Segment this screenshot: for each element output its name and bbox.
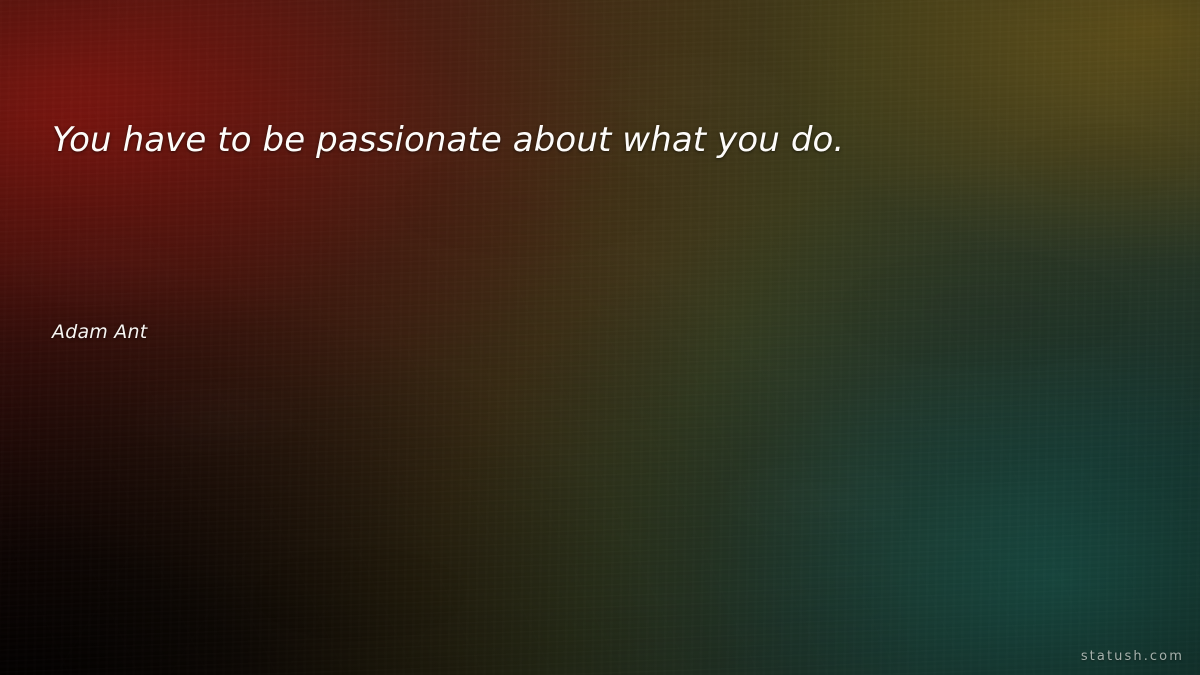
quote-content: You have to be passionate about what you… <box>0 0 1200 675</box>
watermark-statush: statush.com <box>1081 649 1184 664</box>
quote-author: Adam Ant <box>52 319 147 345</box>
quote-card: You have to be passionate about what you… <box>0 0 1200 675</box>
quote-text: You have to be passionate about what you… <box>52 118 1052 162</box>
